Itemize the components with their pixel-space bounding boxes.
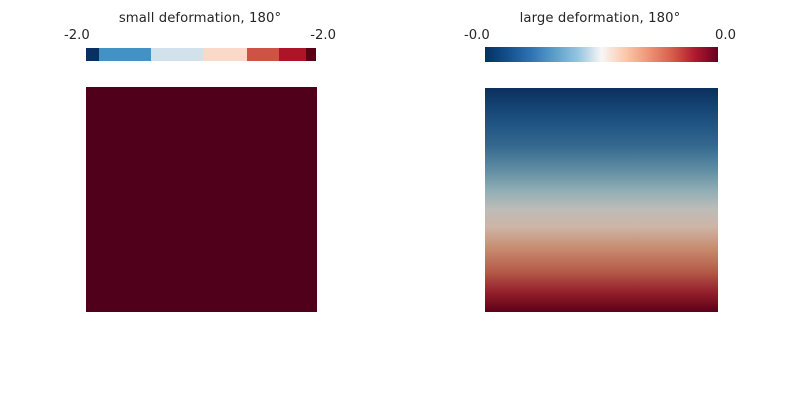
colorbar-min-label-small: -2.0 <box>64 28 90 43</box>
image-plot-small-deformation <box>86 87 317 312</box>
colorbar-large-deformation <box>485 47 718 62</box>
colorbar-band-6 <box>279 48 305 61</box>
colorbar-small-deformation <box>86 48 316 61</box>
colorbar-band-3 <box>151 48 203 61</box>
panel-title-small-deformation: small deformation, 180° <box>0 11 400 26</box>
panel-large-deformation: large deformation, 180° -0.0 0.0 <box>400 0 800 400</box>
figure-canvas: small deformation, 180° -2.0 -2.0 large … <box>0 0 800 400</box>
colorbar-band-1 <box>86 48 99 61</box>
colorbar-band-5 <box>247 48 279 61</box>
colorbar-band-2 <box>99 48 151 61</box>
colorbar-max-label-large: 0.0 <box>715 28 736 43</box>
colorbar-min-label-large: -0.0 <box>464 28 490 43</box>
colorbar-band-7 <box>306 48 316 61</box>
colorbar-max-label-small: -2.0 <box>310 28 336 43</box>
panel-title-large-deformation: large deformation, 180° <box>400 11 800 26</box>
image-plot-large-deformation <box>485 88 718 312</box>
panel-small-deformation: small deformation, 180° -2.0 -2.0 <box>0 0 400 400</box>
colorbar-band-4 <box>203 48 247 61</box>
